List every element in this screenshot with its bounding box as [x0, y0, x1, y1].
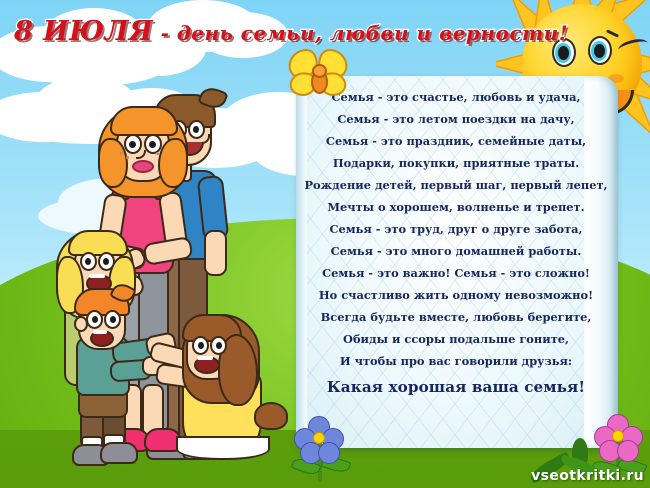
- poem-line: Всегда будьте вместе, любовь берегите,: [321, 306, 592, 328]
- poem-line: Семья - это важно! Семья - это сложно!: [322, 262, 590, 284]
- butterfly-icon: [286, 48, 344, 98]
- poem-text-block: Семья - это счастье, любовь и удача, Сем…: [300, 82, 612, 438]
- poem-line: Семья - это счастье, любовь и удача,: [331, 86, 580, 108]
- family-illustration: [58, 84, 273, 464]
- brunette-girl-eye-left: [192, 336, 209, 355]
- card-title: 8 ИЮЛЯ - день семьи, любви и верности!: [14, 14, 534, 48]
- title-date: 8 ИЮЛЯ: [14, 16, 153, 47]
- boy-eye-right: [104, 310, 121, 329]
- blonde-girl-eye-right: [98, 252, 115, 271]
- poem-line: Семья - это летом поездки на дачу,: [337, 108, 574, 130]
- poem-line: Мечты о хорошем, волненье и трепет.: [327, 196, 584, 218]
- mother-eye-right: [144, 134, 162, 154]
- brunette-girl-eye-right: [210, 336, 227, 355]
- poem-line: Но счастливо жить одному невозможно!: [319, 284, 593, 306]
- poem-line: И чтобы про вас говорили друзья:: [340, 350, 572, 372]
- poem-line: Семья - это много домашней работы.: [331, 240, 582, 262]
- poem-line: Семья - это труд, друг о друге забота,: [329, 218, 582, 240]
- poem-final-line: Какая хорошая ваша семья!: [327, 374, 585, 400]
- blue-flower-icon: [292, 416, 352, 482]
- brown-pet-shape: [254, 402, 288, 430]
- greeting-card: 8 ИЮЛЯ - день семьи, любви и верности! С…: [0, 0, 650, 488]
- title-subtitle: - день семьи, любви и верности!: [153, 21, 568, 45]
- watermark-text[interactable]: vseotkritki.ru: [531, 468, 644, 484]
- poem-line: Обиды и ссоры подальше гоните,: [343, 328, 569, 350]
- sun-eye-right: [588, 36, 612, 65]
- poem-line: Семья - это праздник, семейные даты,: [326, 130, 586, 152]
- boy-eye-left: [86, 310, 103, 329]
- poem-line: Рождение детей, первый шаг, первый лепет…: [304, 174, 607, 196]
- blonde-girl-eye-left: [80, 252, 97, 271]
- poem-line: Подарки, покупки, приятные траты.: [333, 152, 579, 174]
